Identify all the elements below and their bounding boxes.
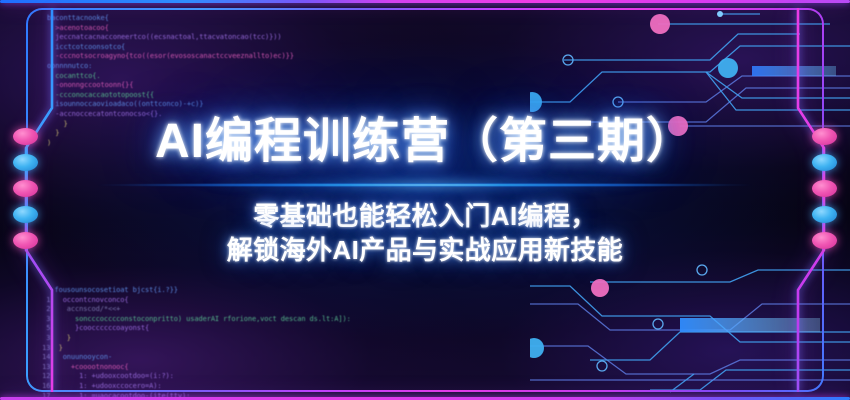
code-line: -cccnotsocroagyno{tco((esor(evososcanact… bbox=[47, 52, 294, 62]
code-line-number: 13 bbox=[38, 344, 54, 352]
code-line: fousounsocosetioat bjcst{i.?}} bbox=[38, 286, 351, 296]
title-underline-streak bbox=[75, 183, 775, 187]
code-line: -ononngccootoonn{}{ bbox=[47, 81, 294, 91]
code-line: baconttacnooke{ bbox=[47, 14, 294, 24]
code-line: 2 accnscod/*<<+ bbox=[38, 305, 351, 315]
code-line-text: -ononngccootoonn{}{ bbox=[47, 81, 133, 89]
code-line-text: baconttacnooke{ bbox=[47, 14, 109, 22]
promo-banner: baconttacnooke{ >acenotoacoo{ jeccnatcac… bbox=[0, 0, 850, 400]
code-line-number: 2 bbox=[38, 305, 54, 313]
headline-container: AI编程训练营（第三期） bbox=[0, 118, 850, 166]
code-line: icctcotcoonsotco{ bbox=[47, 43, 294, 53]
code-line: oonnnnutco: bbox=[47, 62, 294, 72]
code-line-number: 5 bbox=[38, 324, 54, 332]
code-line-number: 3 bbox=[38, 334, 54, 342]
code-line-number: 13 bbox=[38, 363, 54, 371]
banner-title: AI编程训练营（第三期） bbox=[155, 118, 695, 166]
decorative-code-bottom: fousounsocosetioat bjcst{i.?}} 1 occontc… bbox=[38, 286, 351, 400]
code-line-text: cocanttco{. bbox=[47, 72, 101, 80]
code-line-text: occontcnovconco{ bbox=[54, 296, 128, 304]
edge-dot-pink-3 bbox=[812, 180, 837, 197]
code-line-number: 1 bbox=[38, 296, 54, 304]
code-line-number: 12 bbox=[38, 372, 54, 380]
code-line-text: oonnnnutco: bbox=[47, 62, 92, 70]
code-line: 13 } bbox=[38, 344, 351, 354]
code-line-text: icctcotcoonsotco{ bbox=[47, 43, 125, 51]
code-line-number: 16 bbox=[38, 382, 54, 390]
code-line-text: >acenotoacoo{ bbox=[47, 24, 109, 32]
code-line: -ccconocaccaototopoost{{ bbox=[47, 91, 294, 101]
code-line-number bbox=[38, 286, 54, 294]
code-line: >acenotoacoo{ bbox=[47, 24, 294, 34]
subtitle-container: 零基础也能轻松入门AI编程， 解锁海外AI产品与实战应用新技能 bbox=[0, 199, 850, 267]
code-line: 5 }cooccccccoayonst{ bbox=[38, 324, 351, 334]
code-line-text: } bbox=[54, 344, 62, 352]
code-line-text: } bbox=[54, 334, 70, 342]
code-line-text: isounnoccaovioadaco((onttconco)-+c)} bbox=[47, 100, 203, 108]
code-line-text: accnscod/*<<+ bbox=[54, 305, 120, 313]
code-line: 3 soncccocccconstoconpritto) usaderAI rf… bbox=[38, 315, 351, 325]
code-line-text: onuunooycon- bbox=[54, 353, 112, 361]
code-line-text: fousounsocosetioat bjcst{i.?}} bbox=[54, 286, 177, 294]
code-line: isounnoccaovioadaco((onttconco)-+c)} bbox=[47, 100, 294, 110]
code-line-text: -cccnotsocroagyno{tco((esor(evososcanact… bbox=[47, 52, 294, 60]
code-line: 12 1: +udooxcootdoo=(i:?): bbox=[38, 372, 351, 382]
code-line: cocanttco{. bbox=[47, 72, 294, 82]
code-line-text: -accnoccecatontconocso<{}. bbox=[47, 110, 162, 118]
code-line-number: 14 bbox=[38, 353, 54, 361]
code-line-number: 3 bbox=[38, 315, 54, 323]
neon-frame-top-edge bbox=[0, 0, 850, 3]
code-line: jeccnatcacnacconeertco((ecsnactoal,ttacv… bbox=[47, 33, 294, 43]
code-line-text: }cooccccccoayonst{ bbox=[54, 324, 149, 332]
code-line-text: +cooootnonooc{ bbox=[54, 363, 128, 371]
subtitle-line-2: 解锁海外AI产品与实战应用新技能 bbox=[0, 233, 850, 267]
code-line: 14 onuunooycon- bbox=[38, 353, 351, 363]
code-line-text: jeccnatcacnacconeertco((ecsnactoal,ttacv… bbox=[47, 33, 282, 41]
edge-dot-pink-3 bbox=[13, 180, 38, 197]
subtitle-line-1: 零基础也能轻松入门AI编程， bbox=[0, 199, 850, 233]
code-line-text: soncccocccconstoconpritto) usaderAI rfor… bbox=[54, 315, 350, 323]
code-line: 16 1: +udooxccocero=A): bbox=[38, 382, 351, 392]
code-line-text: 1: +udooxccocero=A): bbox=[54, 382, 161, 390]
circuit-trace-art-bottom bbox=[530, 264, 850, 394]
code-line: 3 } bbox=[38, 334, 351, 344]
code-line: 13 +cooootnonooc{ bbox=[38, 363, 351, 373]
code-line: 1 occontcnovconco{ bbox=[38, 296, 351, 306]
code-line-text: -ccconocaccaototopoost{{ bbox=[47, 91, 154, 99]
code-line-text: 1: +udooxcootdoo=(i:?): bbox=[54, 372, 173, 380]
